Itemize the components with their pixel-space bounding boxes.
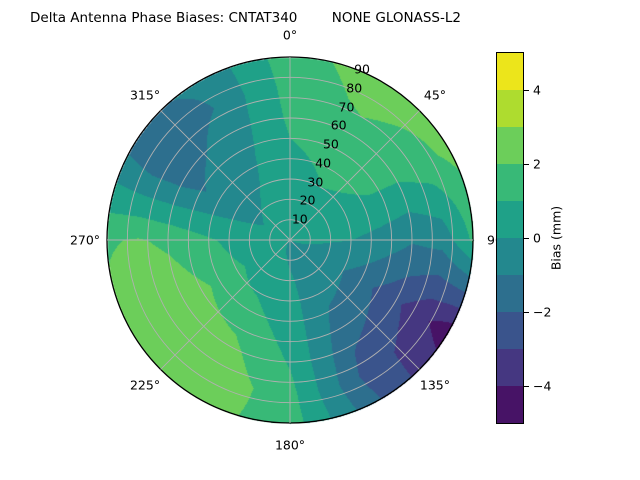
- polar-grid-spoke: [290, 240, 419, 369]
- polar-angular-label: 45°: [424, 88, 446, 103]
- colorbar-tick: [524, 312, 529, 313]
- polar-angular-label: 180°: [275, 438, 305, 453]
- colorbar-tick-label: 2: [533, 157, 541, 172]
- colorbar-band: [497, 312, 523, 349]
- colorbar-band: [497, 386, 523, 423]
- colorbar-band: [497, 90, 523, 127]
- polar-radial-label: 50: [323, 137, 339, 152]
- polar-radial-label: 80: [346, 80, 362, 95]
- polar-angular-label: 0°: [283, 28, 297, 43]
- polar-plot: 0°45°90135°180°225°270°315°1020304050607…: [0, 0, 640, 480]
- polar-angular-label: 315°: [130, 88, 160, 103]
- polar-angular-label: 225°: [130, 377, 160, 392]
- colorbar-band: [497, 275, 523, 312]
- colorbar-band: [497, 53, 523, 90]
- colorbar-tick-label: −4: [533, 379, 551, 394]
- polar-grid-spoke: [161, 240, 290, 369]
- colorbar-band: [497, 127, 523, 164]
- polar-radial-label: 20: [300, 193, 316, 208]
- polar-radial-label: 90: [354, 61, 370, 76]
- colorbar-tick-label: 4: [533, 83, 541, 98]
- colorbar-band: [497, 349, 523, 386]
- colorbar: [496, 52, 524, 424]
- colorbar-tick-label: 0: [533, 231, 541, 246]
- polar-grid-spoke: [161, 111, 290, 240]
- polar-radial-label: 10: [292, 212, 308, 227]
- figure-canvas: Delta Antenna Phase Biases: CNTAT340 NON…: [0, 0, 640, 480]
- colorbar-label: Bias (mm): [549, 206, 564, 270]
- colorbar-tick: [524, 90, 529, 91]
- colorbar-tick: [524, 164, 529, 165]
- polar-radial-label: 40: [315, 155, 331, 170]
- colorbar-band: [497, 238, 523, 275]
- colorbar-tick: [524, 386, 529, 387]
- colorbar-tick-label: −2: [533, 305, 551, 320]
- colorbar-band: [497, 164, 523, 201]
- polar-angular-label: 270°: [70, 233, 100, 248]
- polar-radial-label: 60: [331, 118, 347, 133]
- colorbar-tick: [524, 238, 529, 239]
- polar-angular-label: 135°: [420, 377, 450, 392]
- polar-radial-label: 70: [339, 99, 355, 114]
- colorbar-band: [497, 201, 523, 238]
- polar-radial-label: 30: [307, 174, 323, 189]
